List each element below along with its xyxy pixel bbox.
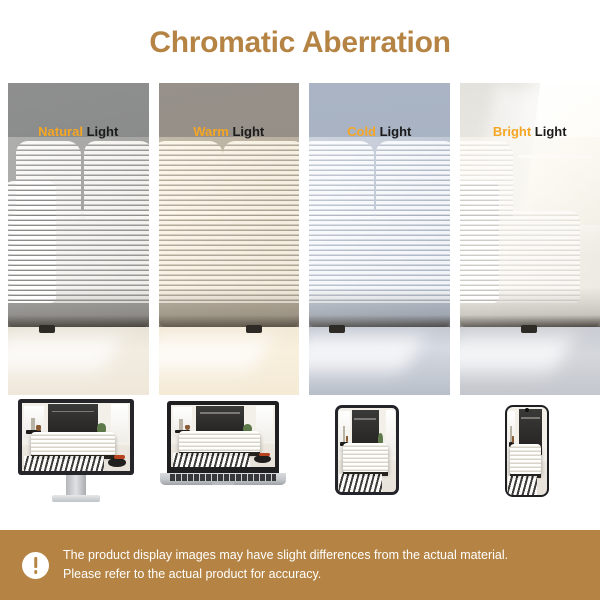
page-title: Chromatic Aberration xyxy=(0,0,600,83)
sofa-under-shadow xyxy=(159,287,300,327)
floor-warm xyxy=(159,327,300,395)
sofa-natural xyxy=(8,137,149,327)
scene-coffee-table xyxy=(108,458,125,467)
phone-bezel xyxy=(505,405,549,497)
panel-label-rest: Light xyxy=(229,124,264,139)
panel-bright-light: Bright Light xyxy=(460,83,600,395)
scene-rug xyxy=(339,474,382,492)
front-camera-icon xyxy=(525,408,529,412)
laptop-keyboard xyxy=(170,474,276,481)
monitor-neck xyxy=(66,475,86,495)
scene-coffee-table xyxy=(254,455,271,463)
scene-sofa xyxy=(179,431,260,452)
scene-lamp xyxy=(31,418,35,430)
panel-cold-light: Cold Light xyxy=(309,83,450,395)
panel-label-rest: Light xyxy=(376,124,411,139)
sofa-foot xyxy=(246,325,262,333)
floor-light-glow xyxy=(309,337,423,371)
sofa-foot xyxy=(521,325,537,333)
disclaimer-line-2: Please refer to the actual product for a… xyxy=(63,565,508,584)
panel-label-bright: Bright Light xyxy=(460,124,600,139)
monitor-bezel xyxy=(18,399,134,475)
scene-decor-bowl xyxy=(114,455,125,459)
sofa-warm xyxy=(159,137,300,327)
sofa-back-cushion-left xyxy=(309,141,374,219)
disclaimer-banner: The product display images may have slig… xyxy=(0,530,600,600)
disclaimer-text: The product display images may have slig… xyxy=(63,546,508,585)
panel-label-rest: Light xyxy=(531,124,566,139)
scene-vase xyxy=(512,436,514,443)
panel-label-warm: Warm Light xyxy=(159,124,300,139)
laptop-screen xyxy=(171,405,275,467)
sofa-back-cushion-left xyxy=(159,141,224,219)
scene-decor-bowl xyxy=(259,453,269,457)
panel-label-cold: Cold Light xyxy=(309,124,450,139)
scene-sofa xyxy=(31,432,115,455)
tablet-bezel xyxy=(335,405,399,495)
panel-label-natural: Natural Light xyxy=(8,124,149,139)
floor-natural xyxy=(8,327,149,395)
sofa-back-cushion-right xyxy=(376,141,449,219)
scene-rug xyxy=(24,456,104,471)
scene-rug xyxy=(173,453,250,467)
sofa-foot xyxy=(329,325,345,333)
panel-natural-light: Natural Light xyxy=(8,83,149,395)
exclamation-mark-icon xyxy=(22,552,49,579)
floor-bright xyxy=(460,327,600,395)
scene-lamp xyxy=(179,419,183,430)
scene-sofa xyxy=(510,444,541,474)
laptop-trackpad xyxy=(212,482,234,485)
panel-label-accent: Cold xyxy=(347,124,376,139)
floor-light-glow xyxy=(460,337,574,371)
laptop-lid xyxy=(167,401,279,473)
panel-label-accent: Warm xyxy=(193,124,229,139)
sofa-back-cushion-right xyxy=(223,141,299,219)
panel-label-rest: Light xyxy=(83,124,118,139)
room-scene xyxy=(338,408,396,492)
sofa-back-cushion-right xyxy=(84,141,149,219)
sofa-arm-block xyxy=(460,181,499,303)
panel-warm-light: Warm Light xyxy=(159,83,300,395)
sofa-arm-block xyxy=(8,181,56,303)
room-scene xyxy=(171,405,275,467)
panel-label-accent: Natural xyxy=(38,124,83,139)
scene-rug xyxy=(508,476,538,495)
phone-screen xyxy=(507,407,547,495)
disclaimer-line-1: The product display images may have slig… xyxy=(63,546,508,565)
sofa-bright xyxy=(460,137,600,327)
scene-lamp xyxy=(343,426,345,441)
monitor-screen xyxy=(22,403,130,471)
lighting-comparison-strip: Natural Light Warm Light xyxy=(0,83,600,395)
room-scene xyxy=(507,407,547,495)
floor-cold xyxy=(309,327,450,395)
monitor-base xyxy=(52,495,100,502)
room-scene xyxy=(22,403,130,471)
tablet-screen xyxy=(338,408,396,492)
floor-light-glow xyxy=(159,337,273,371)
sofa-cold xyxy=(309,137,450,327)
panel-label-accent: Bright xyxy=(493,124,531,139)
sofa-under-shadow xyxy=(309,287,450,327)
device-mockup-row xyxy=(0,393,600,518)
sofa-foot xyxy=(39,325,55,333)
floor-light-glow xyxy=(8,337,122,371)
scene-sofa xyxy=(343,443,388,472)
